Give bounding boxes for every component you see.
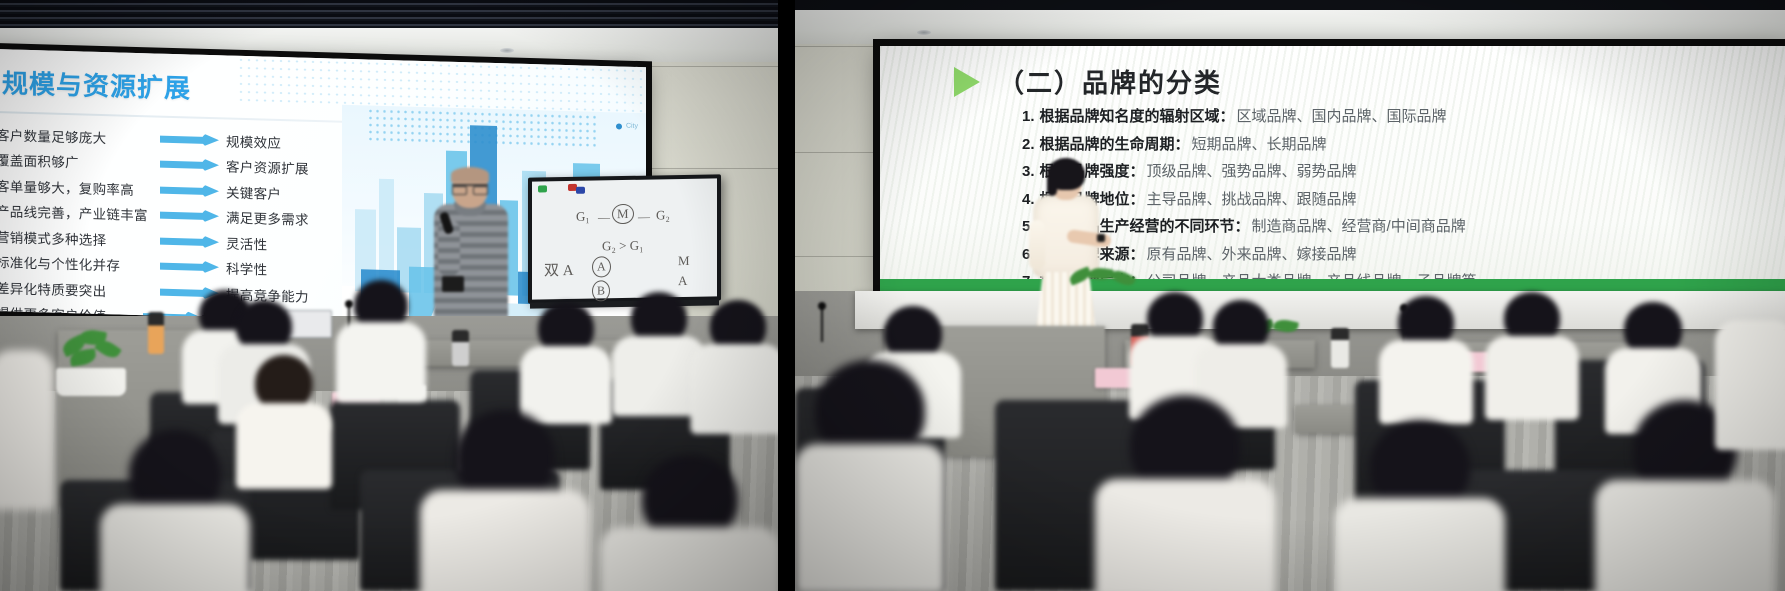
cause-effect-rows: 客户数量足够庞大 规模效应 覆盖面积够广 客户资源扩展 客单量够大，复购率高 关… bbox=[0, 121, 326, 329]
item-value: 原有品牌、外来品牌、嫁接品牌 bbox=[1147, 243, 1357, 264]
attendee bbox=[236, 355, 332, 485]
lanyard-badge bbox=[442, 276, 464, 292]
attendee bbox=[420, 410, 590, 591]
row-cause: 营销模式多种选择 bbox=[0, 226, 156, 250]
row-cause: 客户数量足够庞大 bbox=[0, 124, 156, 148]
row-effect: 科学性 bbox=[226, 258, 267, 279]
arrow-right-icon bbox=[160, 234, 222, 248]
potted-plant bbox=[56, 330, 126, 396]
whiteboard: G₁ — M — G₂ G₂ > G₁ 双 A A B M A bbox=[528, 174, 721, 303]
right-photo: （二）品牌的分类 1. 根据品牌知名度的辐射区域： 区域品牌、国内品牌、国际品牌… bbox=[795, 0, 1785, 591]
green-triangle-icon bbox=[954, 67, 980, 97]
item-key: 根据品牌知名度的辐射区域： bbox=[1040, 105, 1235, 126]
row-effect: 满足更多需求 bbox=[226, 207, 309, 229]
list-item: 1. 根据品牌知名度的辐射区域： 区域品牌、国内品牌、国际品牌 bbox=[1022, 105, 1771, 126]
attendee bbox=[795, 360, 945, 591]
arrow-right-icon bbox=[160, 132, 222, 146]
ceiling-grille bbox=[0, 0, 778, 28]
row-cause: 标准化与个性化并存 bbox=[0, 251, 156, 275]
left-photo: 规模与资源扩展 City bbox=[0, 0, 778, 591]
row-cause: 产品线完善，产业链丰富 bbox=[0, 200, 156, 224]
speaker-left-arm bbox=[1029, 220, 1045, 270]
wb-note: G₁ bbox=[576, 209, 590, 225]
legend-label: City bbox=[626, 123, 638, 130]
slide-brand-classification: （二）品牌的分类 1. 根据品牌知名度的辐射区域： 区域品牌、国内品牌、国际品牌… bbox=[880, 46, 1785, 296]
speaker-hair bbox=[451, 167, 489, 182]
gooseneck-microphone bbox=[821, 308, 823, 342]
row-effect: 关键客户 bbox=[226, 181, 281, 203]
attendee bbox=[0, 330, 54, 510]
attendee bbox=[336, 280, 426, 400]
projection-screen-right: （二）品牌的分类 1. 根据品牌知名度的辐射区域： 区域品牌、国内品牌、国际品牌… bbox=[880, 46, 1785, 296]
wrist-watch-icon bbox=[1097, 234, 1105, 242]
arrow-right-icon bbox=[160, 158, 222, 172]
slide-title: 规模与资源扩展 bbox=[2, 63, 191, 105]
arrow-right-icon bbox=[160, 183, 222, 197]
attendee bbox=[1379, 296, 1473, 422]
item-number: 2. bbox=[1022, 136, 1035, 153]
item-value: 区域品牌、国内品牌、国际品牌 bbox=[1237, 105, 1447, 126]
water-bottle bbox=[148, 312, 164, 354]
ceiling-edge bbox=[795, 0, 1785, 10]
wb-note: 双 A bbox=[544, 259, 574, 281]
marker-blue-icon bbox=[576, 187, 585, 194]
attendee bbox=[1485, 292, 1579, 418]
city-legend: City bbox=[616, 122, 638, 130]
list-item: 4. 根据品牌地位： 主导品牌、挑战品牌、跟随品牌 bbox=[1022, 188, 1771, 209]
wb-note: G₂ bbox=[656, 207, 670, 223]
ceiling-soffit bbox=[795, 10, 1785, 44]
list-item: 5. 根据产品生产经营的不同环节： 制造商品牌、经营商/中间商品牌 bbox=[1022, 215, 1771, 236]
male-speaker bbox=[430, 168, 514, 323]
arrow-right-icon bbox=[160, 260, 222, 274]
item-value: 主导品牌、挑战品牌、跟随品牌 bbox=[1147, 188, 1357, 209]
attendee bbox=[100, 430, 250, 591]
legend-dot-icon bbox=[616, 123, 622, 129]
list-item: 2. 根据品牌的生命周期： 短期品牌、长期品牌 bbox=[1022, 133, 1771, 154]
wb-note: G₂ > G₁ bbox=[602, 238, 644, 255]
list-item: 3. 根据品牌强度： 顶级品牌、强势品牌、弱势品牌 bbox=[1022, 160, 1771, 181]
arrow-right-icon bbox=[160, 209, 222, 223]
row-effect: 灵活性 bbox=[226, 232, 267, 253]
slide-title-row: （二）品牌的分类 bbox=[954, 63, 1222, 100]
attendee bbox=[1715, 300, 1785, 440]
water-bottle bbox=[1331, 328, 1349, 368]
list-item: 6. 根据品牌来源： 原有品牌、外来品牌、嫁接品牌 bbox=[1022, 243, 1771, 264]
attendee bbox=[690, 300, 778, 430]
attendee bbox=[600, 455, 778, 591]
item-value: 制造商品牌、经营商/中间商品牌 bbox=[1252, 215, 1466, 236]
item-key: 根据品牌的生命周期： bbox=[1040, 133, 1190, 154]
item-value: 短期品牌、长期品牌 bbox=[1192, 133, 1327, 154]
glasses-icon bbox=[452, 184, 488, 193]
row-cause: 客单量够大，复购率高 bbox=[0, 175, 156, 199]
row-effect: 规模效应 bbox=[226, 130, 281, 152]
water-bottle bbox=[452, 330, 469, 366]
row-effect: 客户资源扩展 bbox=[226, 156, 309, 178]
attendee bbox=[520, 302, 612, 422]
marker-green-icon bbox=[538, 185, 547, 192]
downlight-icon bbox=[500, 48, 514, 53]
speaker-hair bbox=[1047, 174, 1057, 196]
row-cause: 差异化特质要突出 bbox=[0, 277, 156, 301]
screenshot-stage: 规模与资源扩展 City bbox=[0, 0, 1785, 591]
attendee bbox=[1095, 395, 1275, 591]
wb-note: M bbox=[612, 204, 634, 224]
downlight-icon bbox=[917, 30, 931, 35]
item-number: 1. bbox=[1022, 108, 1035, 125]
item-value: 顶级品牌、强势品牌、弱势品牌 bbox=[1147, 160, 1357, 181]
slide-title: （二）品牌的分类 bbox=[998, 63, 1222, 100]
attendee bbox=[1335, 420, 1505, 591]
panel-divider bbox=[778, 0, 795, 591]
row-cause: 覆盖面积够广 bbox=[0, 149, 156, 173]
